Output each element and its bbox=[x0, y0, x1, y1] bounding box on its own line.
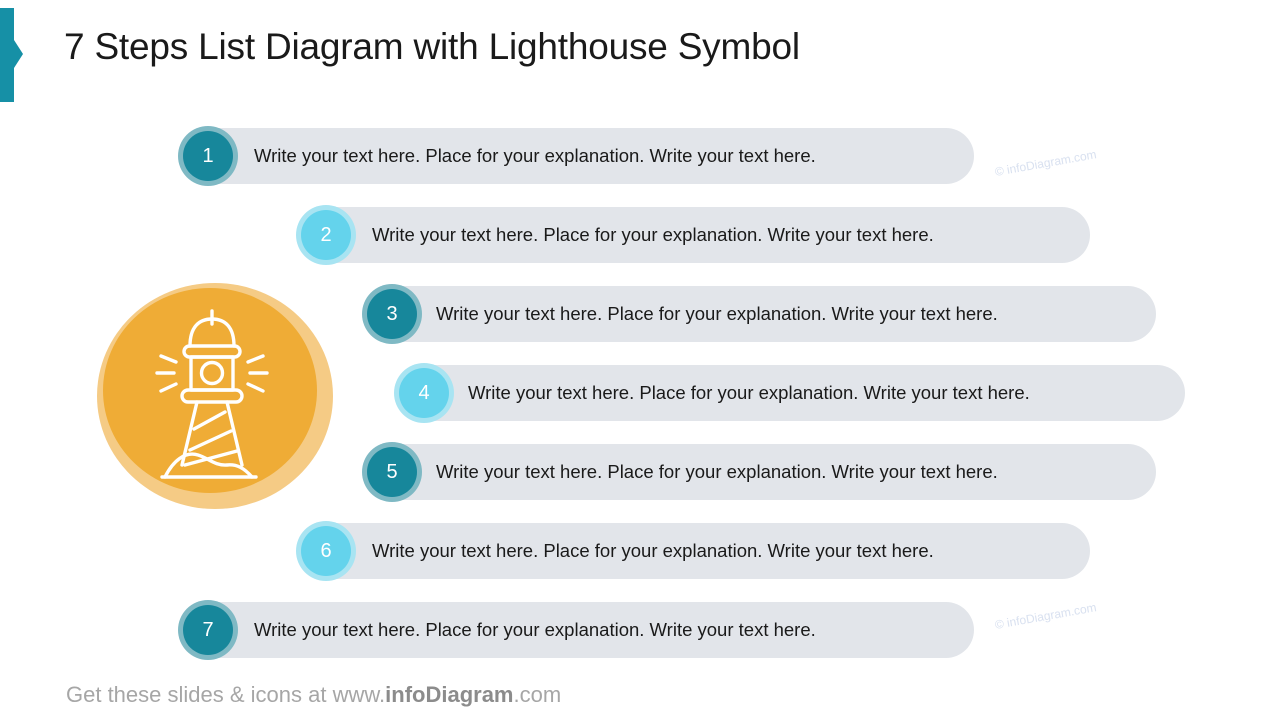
step-text: Write your text here. Place for your exp… bbox=[254, 128, 816, 184]
step-text: Write your text here. Place for your exp… bbox=[372, 523, 934, 579]
step-number-badge[interactable]: 2 bbox=[296, 205, 356, 265]
step-number-badge[interactable]: 1 bbox=[178, 126, 238, 186]
title-accent-bar bbox=[0, 8, 14, 102]
step-row[interactable]: 3 Write your text here. Place for your e… bbox=[368, 286, 1156, 342]
step-number-badge[interactable]: 7 bbox=[178, 600, 238, 660]
footer-credit[interactable]: Get these slides & icons at www.infoDiag… bbox=[66, 682, 561, 708]
watermark: © infoDiagram.com bbox=[994, 600, 1098, 632]
step-badge-disc: 6 bbox=[301, 526, 351, 576]
step-badge-disc: 1 bbox=[183, 131, 233, 181]
title-accent-chevron-icon bbox=[14, 40, 23, 68]
watermark: © infoDiagram.com bbox=[994, 147, 1098, 179]
step-text: Write your text here. Place for your exp… bbox=[436, 286, 998, 342]
step-number-badge[interactable]: 6 bbox=[296, 521, 356, 581]
step-badge-disc: 4 bbox=[399, 368, 449, 418]
step-badge-disc: 2 bbox=[301, 210, 351, 260]
step-text: Write your text here. Place for your exp… bbox=[254, 602, 816, 658]
step-badge-disc: 5 bbox=[367, 447, 417, 497]
step-badge-disc: 3 bbox=[367, 289, 417, 339]
page-title: 7 Steps List Diagram with Lighthouse Sym… bbox=[64, 26, 800, 68]
footer-prefix: Get these slides & icons at www. bbox=[66, 682, 385, 707]
step-number-badge[interactable]: 5 bbox=[362, 442, 422, 502]
slide-canvas: 7 Steps List Diagram with Lighthouse Sym… bbox=[0, 0, 1280, 720]
step-row[interactable]: 1 Write your text here. Place for your e… bbox=[184, 128, 974, 184]
footer-suffix: .com bbox=[514, 682, 562, 707]
step-text: Write your text here. Place for your exp… bbox=[436, 444, 998, 500]
lighthouse-icon bbox=[149, 305, 275, 483]
step-text: Write your text here. Place for your exp… bbox=[372, 207, 934, 263]
step-row[interactable]: 6 Write your text here. Place for your e… bbox=[302, 523, 1090, 579]
footer-brand: infoDiagram bbox=[385, 682, 513, 707]
lighthouse-medallion bbox=[97, 283, 333, 509]
step-text: Write your text here. Place for your exp… bbox=[468, 365, 1030, 421]
step-number-badge[interactable]: 3 bbox=[362, 284, 422, 344]
step-badge-disc: 7 bbox=[183, 605, 233, 655]
step-number-badge[interactable]: 4 bbox=[394, 363, 454, 423]
step-row[interactable]: 5 Write your text here. Place for your e… bbox=[368, 444, 1156, 500]
step-row[interactable]: 4 Write your text here. Place for your e… bbox=[400, 365, 1185, 421]
step-row[interactable]: 7 Write your text here. Place for your e… bbox=[184, 602, 974, 658]
step-row[interactable]: 2 Write your text here. Place for your e… bbox=[302, 207, 1090, 263]
